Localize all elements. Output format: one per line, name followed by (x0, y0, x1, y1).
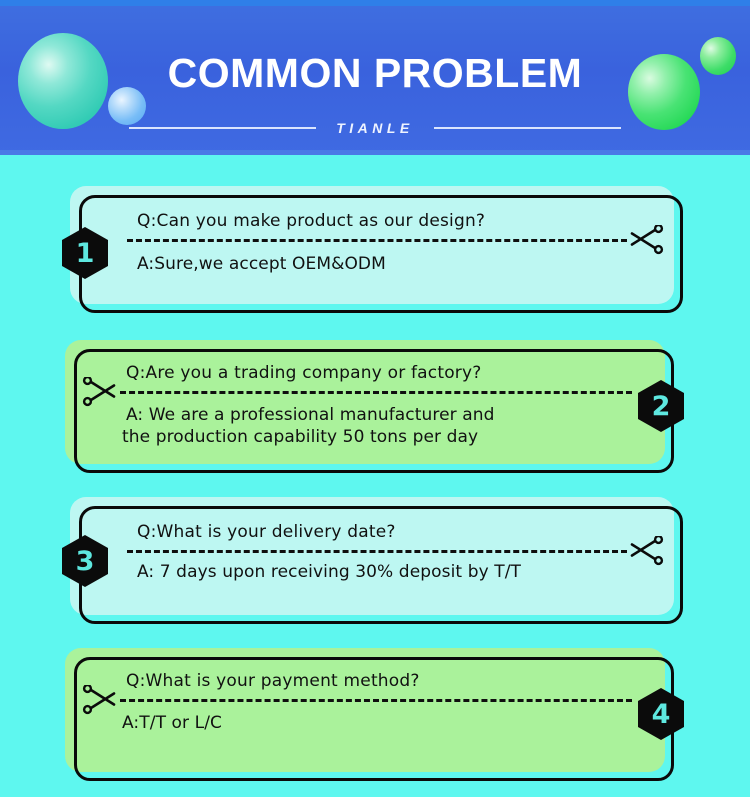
faq-2-content: Q:Are you a trading company or factory? … (74, 349, 674, 473)
faq-4-number: 4 (652, 701, 671, 728)
header-top-accent-line (0, 0, 750, 6)
faq-2-answer-line1: A: We are a professional manufacturer an… (126, 405, 495, 426)
faq-item-3[interactable]: Q:What is your delivery date? A: 7 days … (70, 497, 674, 615)
page-title: COMMON PROBLEM (0, 49, 750, 97)
faq-item-1[interactable]: Q:Can you make product as our design? A:… (70, 186, 674, 304)
scissors-icon (630, 536, 664, 566)
brand-name: TIANLE (336, 120, 414, 136)
scissors-icon (630, 225, 664, 255)
page-header: COMMON PROBLEM TIANLE (0, 0, 750, 155)
faq-1-content: Q:Can you make product as our design? A:… (79, 195, 683, 313)
faq-1-answer: A:Sure,we accept OEM&ODM (137, 254, 386, 275)
faq-page: COMMON PROBLEM TIANLE Q:Can you make pro… (0, 0, 750, 797)
faq-3-question: Q:What is your delivery date? (137, 522, 396, 542)
faq-3-number: 3 (76, 548, 95, 575)
faq-item-4[interactable]: Q:What is your payment method? A:T/T or … (65, 648, 665, 772)
scissors-icon (82, 377, 116, 407)
scissors-icon (82, 685, 116, 715)
subtitle-rule-left (129, 127, 316, 129)
faq-4-divider (120, 699, 632, 702)
header-bottom-accent-line (0, 150, 750, 155)
faq-2-number: 2 (652, 393, 671, 420)
faq-4-question: Q:What is your payment method? (126, 671, 420, 691)
faq-2-answer-line2: the production capability 50 tons per da… (122, 427, 478, 448)
faq-3-divider (127, 550, 627, 553)
faq-3-answer: A: 7 days upon receiving 30% deposit by … (137, 562, 521, 583)
faq-1-question: Q:Can you make product as our design? (137, 211, 485, 231)
header-subtitle-row: TIANLE (0, 120, 750, 136)
faq-3-content: Q:What is your delivery date? A: 7 days … (79, 506, 683, 624)
faq-4-content: Q:What is your payment method? A:T/T or … (74, 657, 674, 781)
subtitle-rule-right (434, 127, 621, 129)
faq-1-divider (127, 239, 627, 242)
faq-2-divider (120, 391, 632, 394)
faq-2-question: Q:Are you a trading company or factory? (126, 363, 481, 383)
faq-item-2[interactable]: Q:Are you a trading company or factory? … (65, 340, 665, 464)
faq-1-number: 1 (76, 240, 95, 267)
faq-4-answer: A:T/T or L/C (122, 713, 222, 734)
